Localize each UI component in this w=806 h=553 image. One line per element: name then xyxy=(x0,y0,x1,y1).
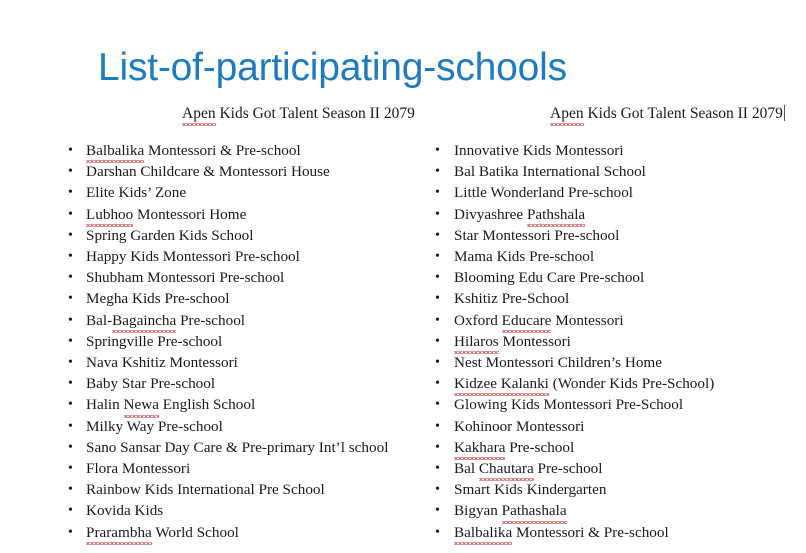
list-item: Nest Montessori Children’s Home xyxy=(426,352,798,373)
list-item-text: Baby Star Pre-school xyxy=(86,375,215,392)
list-item-text: Kshitiz Pre-School xyxy=(454,290,569,307)
list-item: Darshan Childcare & Montessori House xyxy=(60,161,430,182)
list-item: Bal Batika International School xyxy=(426,161,798,182)
list-item-text: Kids Got Talent Season II 2079 xyxy=(216,105,415,122)
spellcheck-underlined-word: Apen xyxy=(550,104,584,124)
list-item-text: Nava Kshitiz Montessori xyxy=(86,354,238,371)
spellcheck-underlined-word: Pathshala xyxy=(527,204,585,225)
list-item-text: Bal- xyxy=(86,312,112,329)
spellcheck-underlined-word: Lubhoo xyxy=(86,204,133,225)
list-item: Nava Kshitiz Montessori xyxy=(60,352,430,373)
list-item-text: Kids Got Talent Season II 2079 xyxy=(584,105,783,122)
page-title: List-of-participating-schools xyxy=(98,44,738,92)
list-item: Glowing Kids Montessori Pre-School xyxy=(426,394,798,415)
spellcheck-underlined-word: Educare xyxy=(502,310,552,331)
list-item-text: Rainbow Kids International Pre School xyxy=(86,481,325,498)
list-item: Springville Pre-school xyxy=(60,331,430,352)
list-item: Spring Garden Kids School xyxy=(60,225,430,246)
list-item-text: Bal Batika International School xyxy=(454,163,646,180)
list-item-text: Mama Kids Pre-school xyxy=(454,248,594,265)
list-item: Baby Star Pre-school xyxy=(60,373,430,394)
list-item-text: Kovida Kids xyxy=(86,502,163,519)
list-item: Sano Sansar Day Care & Pre-primary Int’l… xyxy=(60,437,430,458)
list-item: Flora Montessori xyxy=(60,458,430,479)
list-item-text: Megha Kids Pre-school xyxy=(86,290,229,307)
list-item: Megha Kids Pre-school xyxy=(60,288,430,309)
list-item-text: Halin xyxy=(86,396,124,413)
list-item-text: Milky Way Pre-school xyxy=(86,418,223,435)
list-item: Kidzee Kalanki (Wonder Kids Pre-School) xyxy=(426,373,798,394)
list-item: Innovative Kids Montessori xyxy=(426,140,798,161)
list-item: Rainbow Kids International Pre School xyxy=(60,479,430,500)
spellcheck-underlined-word: Prarambha xyxy=(86,522,152,543)
list-item: Happy Kids Montessori Pre-school xyxy=(60,246,430,267)
list-item: Bal Chautara Pre-school xyxy=(426,458,798,479)
list-item-text: Montessori & Pre-school xyxy=(512,524,669,541)
list-item: Oxford Educare Montessori xyxy=(426,310,798,331)
list-item: Kshitiz Pre-School xyxy=(426,288,798,309)
list-item-text: Oxford xyxy=(454,312,502,329)
list-item: Star Montessori Pre-school xyxy=(426,225,798,246)
list-item: Milky Way Pre-school xyxy=(60,416,430,437)
list-item: Halin Newa English School xyxy=(60,394,430,415)
list-item-text: English School xyxy=(159,396,255,413)
list-item-text: Pre-school xyxy=(176,312,245,329)
spellcheck-underlined-word: Kidzee Kalanki xyxy=(454,373,549,394)
list-item-text: Shubham Montessori Pre-school xyxy=(86,269,284,286)
list-item-text: Blooming Edu Care Pre-school xyxy=(454,269,644,286)
list-item-text: Pre-school xyxy=(505,439,574,456)
list-item: Kovida Kids xyxy=(60,500,430,521)
list-item-text: Darshan Childcare & Montessori House xyxy=(86,163,330,180)
spellcheck-underlined-word: Apen xyxy=(182,104,216,124)
list-item-text: Springville Pre-school xyxy=(86,333,222,350)
list-item-text: Innovative Kids Montessori xyxy=(454,142,624,159)
list-item: Elite Kids’ Zone xyxy=(60,182,430,203)
list-item: Bal-Bagaincha Pre-school xyxy=(60,310,430,331)
list-item: Divyashree Pathshala xyxy=(426,204,798,225)
list-item-text: Flora Montessori xyxy=(86,460,190,477)
list-item-text: Bigyan xyxy=(454,502,502,519)
text-caret xyxy=(784,105,785,121)
list-item-text: Smart Kids Kindergarten xyxy=(454,481,606,498)
list-item-text: Happy Kids Montessori Pre-school xyxy=(86,248,300,265)
list-item: Mama Kids Pre-school xyxy=(426,246,798,267)
list-item-text: Spring Garden Kids School xyxy=(86,227,253,244)
list-item-text: (Wonder Kids Pre-School) xyxy=(549,375,714,392)
list-item: Kohinoor Montessori xyxy=(426,416,798,437)
list-item-text: Montessori & Pre-school xyxy=(144,142,301,159)
list-item: Kakhara Pre-school xyxy=(426,437,798,458)
list-item-text: Montessori xyxy=(551,312,623,329)
spellcheck-underlined-word: Newa xyxy=(124,394,159,415)
list-item-text: Kohinoor Montessori xyxy=(454,418,584,435)
list-item: Hilaros Montessori xyxy=(426,331,798,352)
list-item-text: World School xyxy=(152,524,239,541)
list-item: Smart Kids Kindergarten xyxy=(426,479,798,500)
list-item-text: Pre-school xyxy=(534,460,603,477)
school-list-left: Balbalika Montessori & Pre-schoolDarshan… xyxy=(60,140,430,543)
list-item: Prarambha World School xyxy=(60,522,430,543)
list-item-text: Montessori Home xyxy=(133,206,246,223)
list-item: Bigyan Pathashala xyxy=(426,500,798,521)
spellcheck-underlined-word: Bagaincha xyxy=(112,310,176,331)
list-item-text: Divyashree xyxy=(454,206,527,223)
school-list-right: Innovative Kids MontessoriBal Batika Int… xyxy=(426,140,798,543)
spellcheck-underlined-word: Balbalika xyxy=(86,140,144,161)
list-item-text: Little Wonderland Pre-school xyxy=(454,184,633,201)
list-item: Little Wonderland Pre-school xyxy=(426,182,798,203)
schools-column-right: Apen Kids Got Talent Season II 2079 Inno… xyxy=(426,104,798,543)
slide-canvas: List-of-participating-schools Apen Kids … xyxy=(0,0,806,553)
list-item-text: Montessori xyxy=(499,333,571,350)
list-item: Balbalika Montessori & Pre-school xyxy=(60,140,430,161)
spellcheck-underlined-word: Balbalika xyxy=(454,522,512,543)
column-header-right: Apen Kids Got Talent Season II 2079 xyxy=(426,104,798,124)
spellcheck-underlined-word: Pathashala xyxy=(502,500,567,521)
list-item-text: Sano Sansar Day Care & Pre-primary Int’l… xyxy=(86,439,388,456)
column-header-left: Apen Kids Got Talent Season II 2079 xyxy=(60,104,430,124)
list-item-text: Elite Kids’ Zone xyxy=(86,184,186,201)
list-item-text: Nest Montessori Children’s Home xyxy=(454,354,662,371)
list-item: Balbalika Montessori & Pre-school xyxy=(426,522,798,543)
spellcheck-underlined-word: Kakhara xyxy=(454,437,505,458)
list-item: Blooming Edu Care Pre-school xyxy=(426,267,798,288)
spellcheck-underlined-word: Hilaros xyxy=(454,331,499,352)
schools-column-left: Apen Kids Got Talent Season II 2079 Balb… xyxy=(60,104,430,543)
list-item-text: Glowing Kids Montessori Pre-School xyxy=(454,396,683,413)
list-item-text: Bal xyxy=(454,460,479,477)
list-item-text: Star Montessori Pre-school xyxy=(454,227,619,244)
list-item: Lubhoo Montessori Home xyxy=(60,204,430,225)
spellcheck-underlined-word: Chautara xyxy=(479,458,534,479)
list-item: Shubham Montessori Pre-school xyxy=(60,267,430,288)
